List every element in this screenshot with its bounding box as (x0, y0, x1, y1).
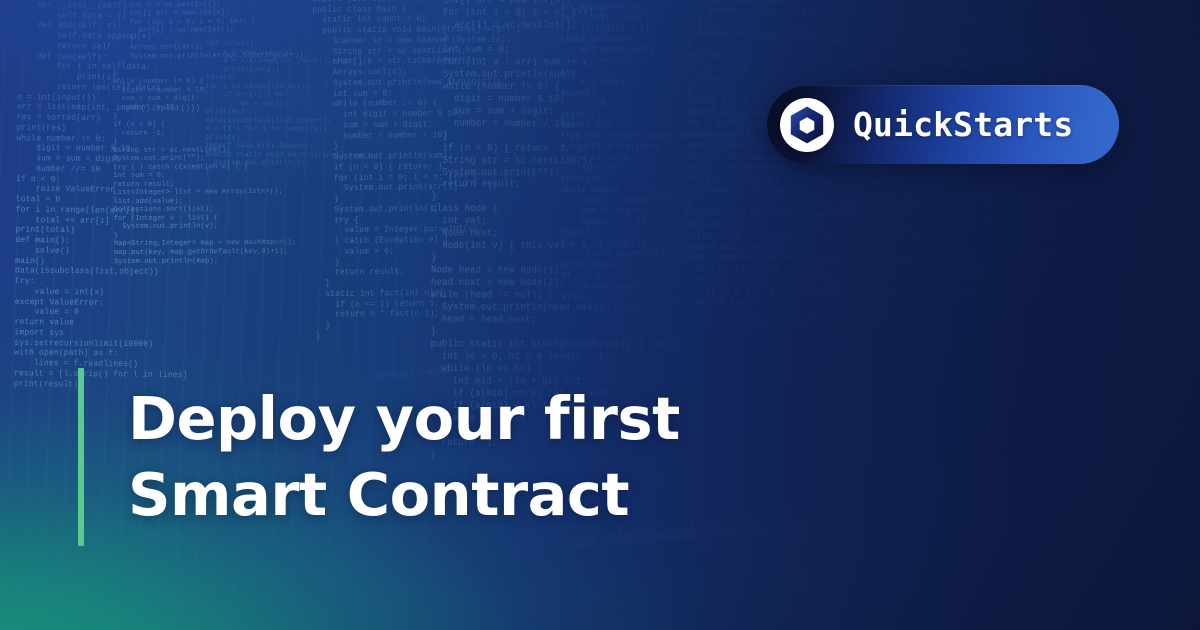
quickstarts-badge: QuickStarts (767, 85, 1119, 164)
quickstarts-banner-card: class Solution: def __init__(self): self… (0, 0, 1200, 630)
headline-block: Deploy your first Smart Contract (78, 368, 680, 546)
chainlink-logo-circle (780, 98, 834, 152)
page-title: Deploy your first Smart Contract (84, 381, 680, 533)
quickstarts-badge-label: QuickStarts (853, 105, 1073, 144)
chainlink-hexagon-icon (790, 106, 824, 144)
